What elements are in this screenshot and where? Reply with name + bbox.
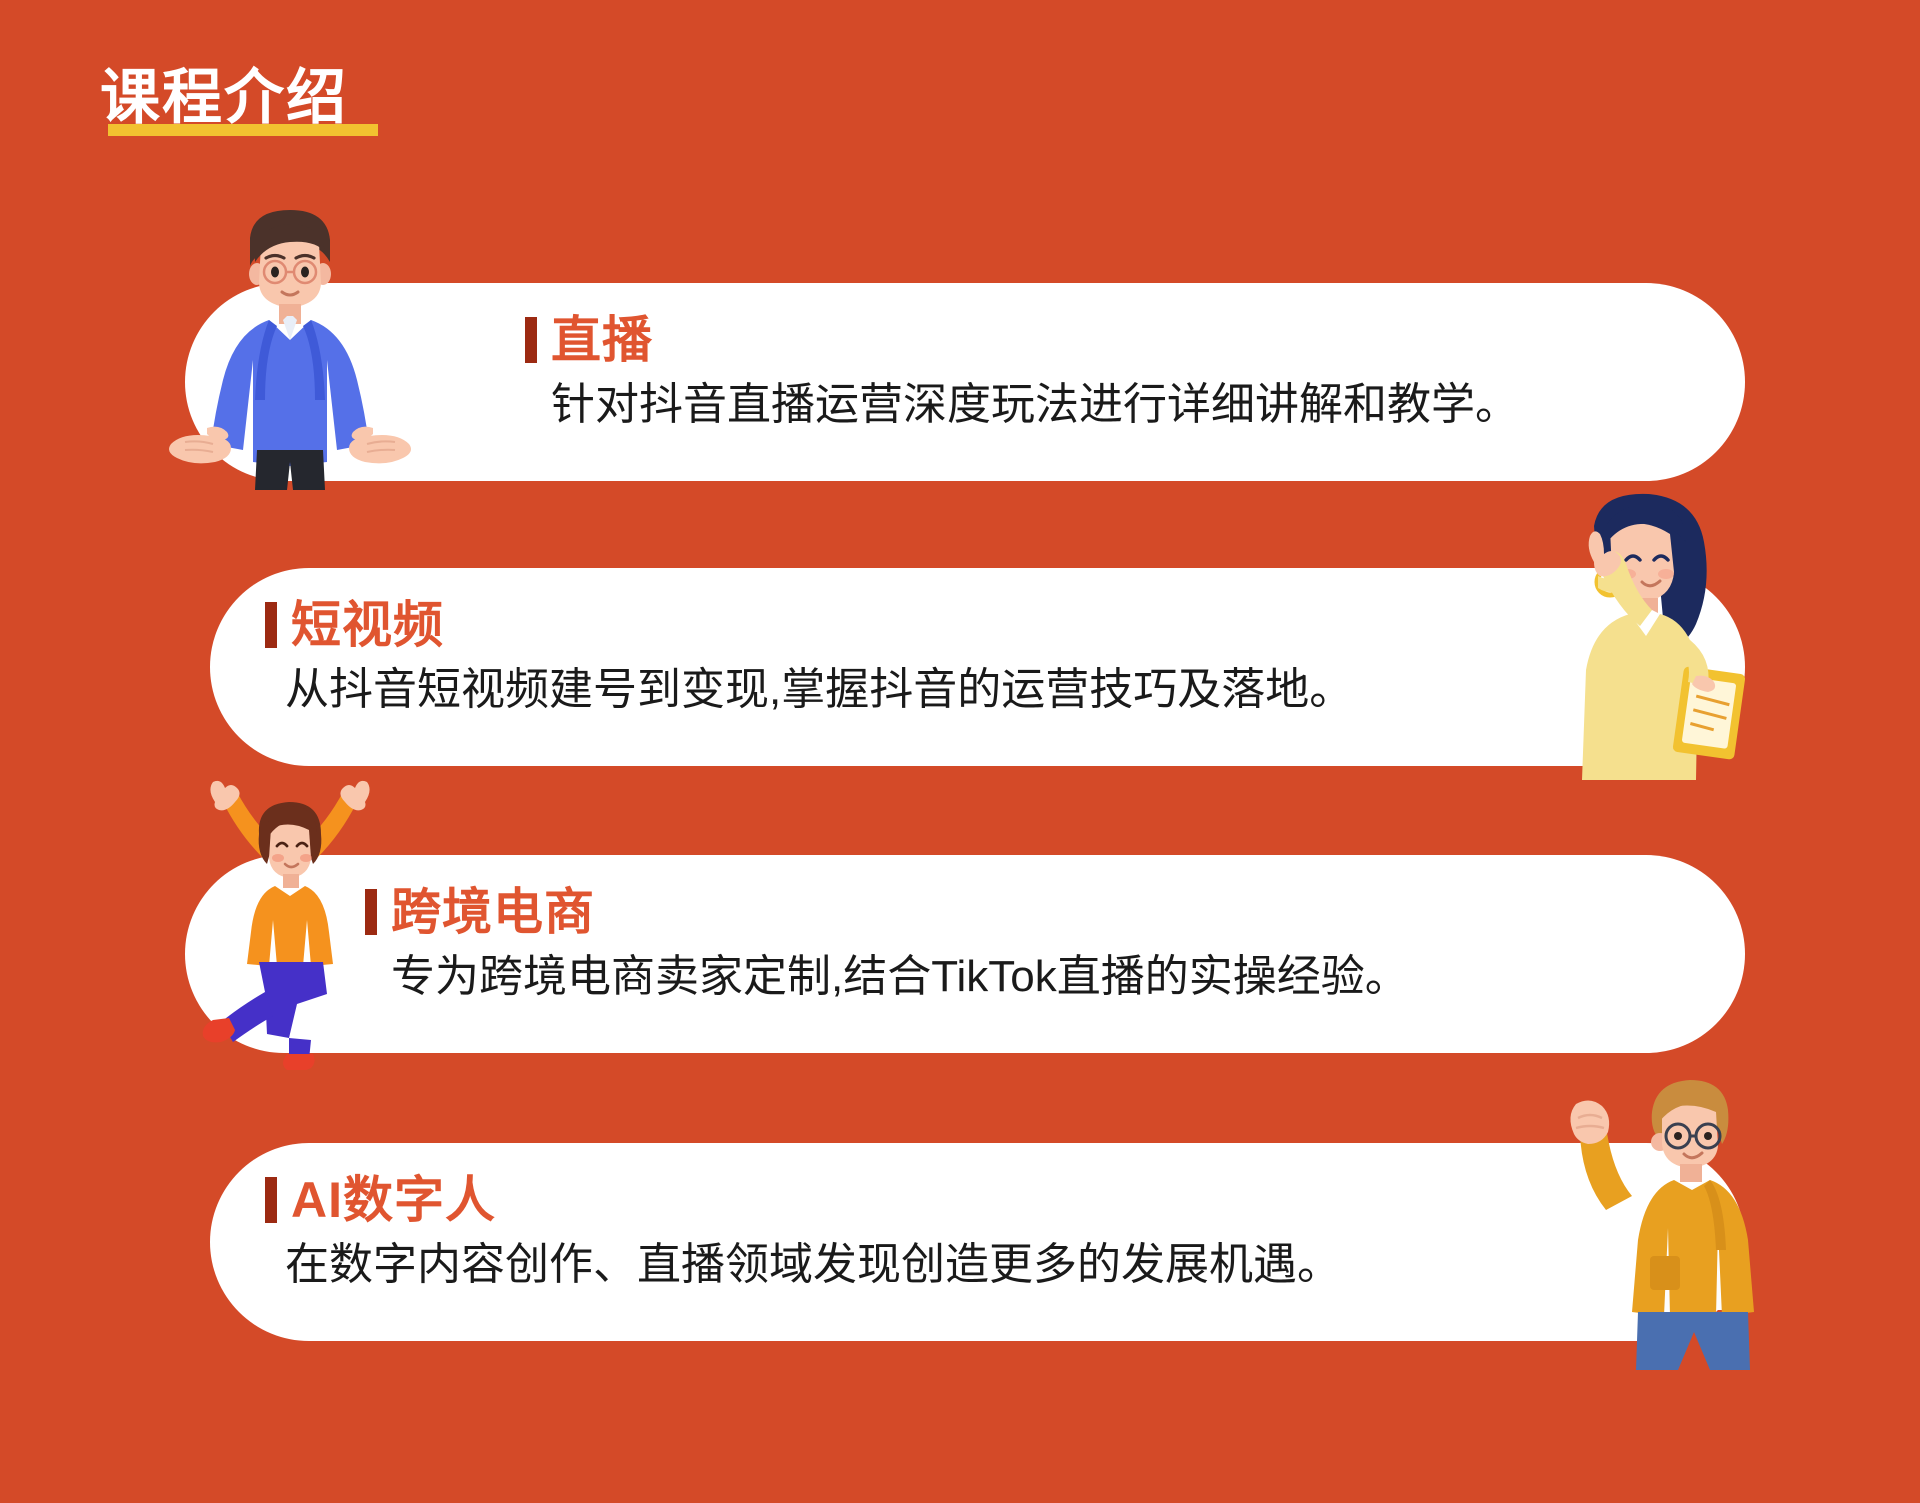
card-text-block: 跨境电商 专为跨境电商卖家定制,结合TikTok直播的实操经验。 [365, 883, 1409, 1007]
card-heading: AI数字人 [265, 1171, 1341, 1229]
card-heading-label: AI数字人 [291, 1171, 496, 1229]
course-card-cross-border-ecommerce[interactable]: 跨境电商 专为跨境电商卖家定制,结合TikTok直播的实操经验。 [185, 855, 1745, 1053]
card-description: 专为跨境电商卖家定制,结合TikTok直播的实操经验。 [365, 947, 1409, 1007]
page-title: 课程介绍 [100, 62, 348, 134]
page-title-block: 课程介绍 [100, 62, 348, 142]
heading-bar-icon [525, 317, 537, 363]
card-description: 从抖音短视频建号到变现,掌握抖音的运营技巧及落地。 [265, 660, 1353, 720]
woman-pointing-up-illustration [1490, 490, 1780, 790]
card-description: 在数字内容创作、直播领域发现创造更多的发展机遇。 [265, 1235, 1341, 1295]
card-text-block: 直播 针对抖音直播运营深度玩法进行详细讲解和教学。 [525, 311, 1519, 435]
heading-bar-icon [265, 1177, 277, 1223]
cheering-man-illustration [1510, 1060, 1790, 1370]
heading-bar-icon [265, 602, 277, 648]
card-heading-label: 直播 [551, 311, 653, 369]
card-heading-label: 跨境电商 [391, 883, 595, 941]
course-card-live[interactable]: 直播 针对抖音直播运营深度玩法进行详细讲解和教学。 [185, 283, 1745, 481]
card-heading-label: 短视频 [291, 596, 444, 654]
card-text-block: AI数字人 在数字内容创作、直播领域发现创造更多的发展机遇。 [265, 1171, 1341, 1295]
dancing-woman-illustration [185, 780, 395, 1070]
card-text-block: 短视频 从抖音短视频建号到变现,掌握抖音的运营技巧及落地。 [265, 596, 1353, 720]
card-heading: 跨境电商 [365, 883, 1409, 941]
card-heading: 直播 [525, 311, 1519, 369]
course-card-list: 直播 针对抖音直播运营深度玩法进行详细讲解和教学。 [0, 0, 1920, 1503]
man-with-open-hands-illustration [165, 200, 415, 490]
card-heading: 短视频 [265, 596, 1353, 654]
card-description: 针对抖音直播运营深度玩法进行详细讲解和教学。 [525, 375, 1519, 435]
